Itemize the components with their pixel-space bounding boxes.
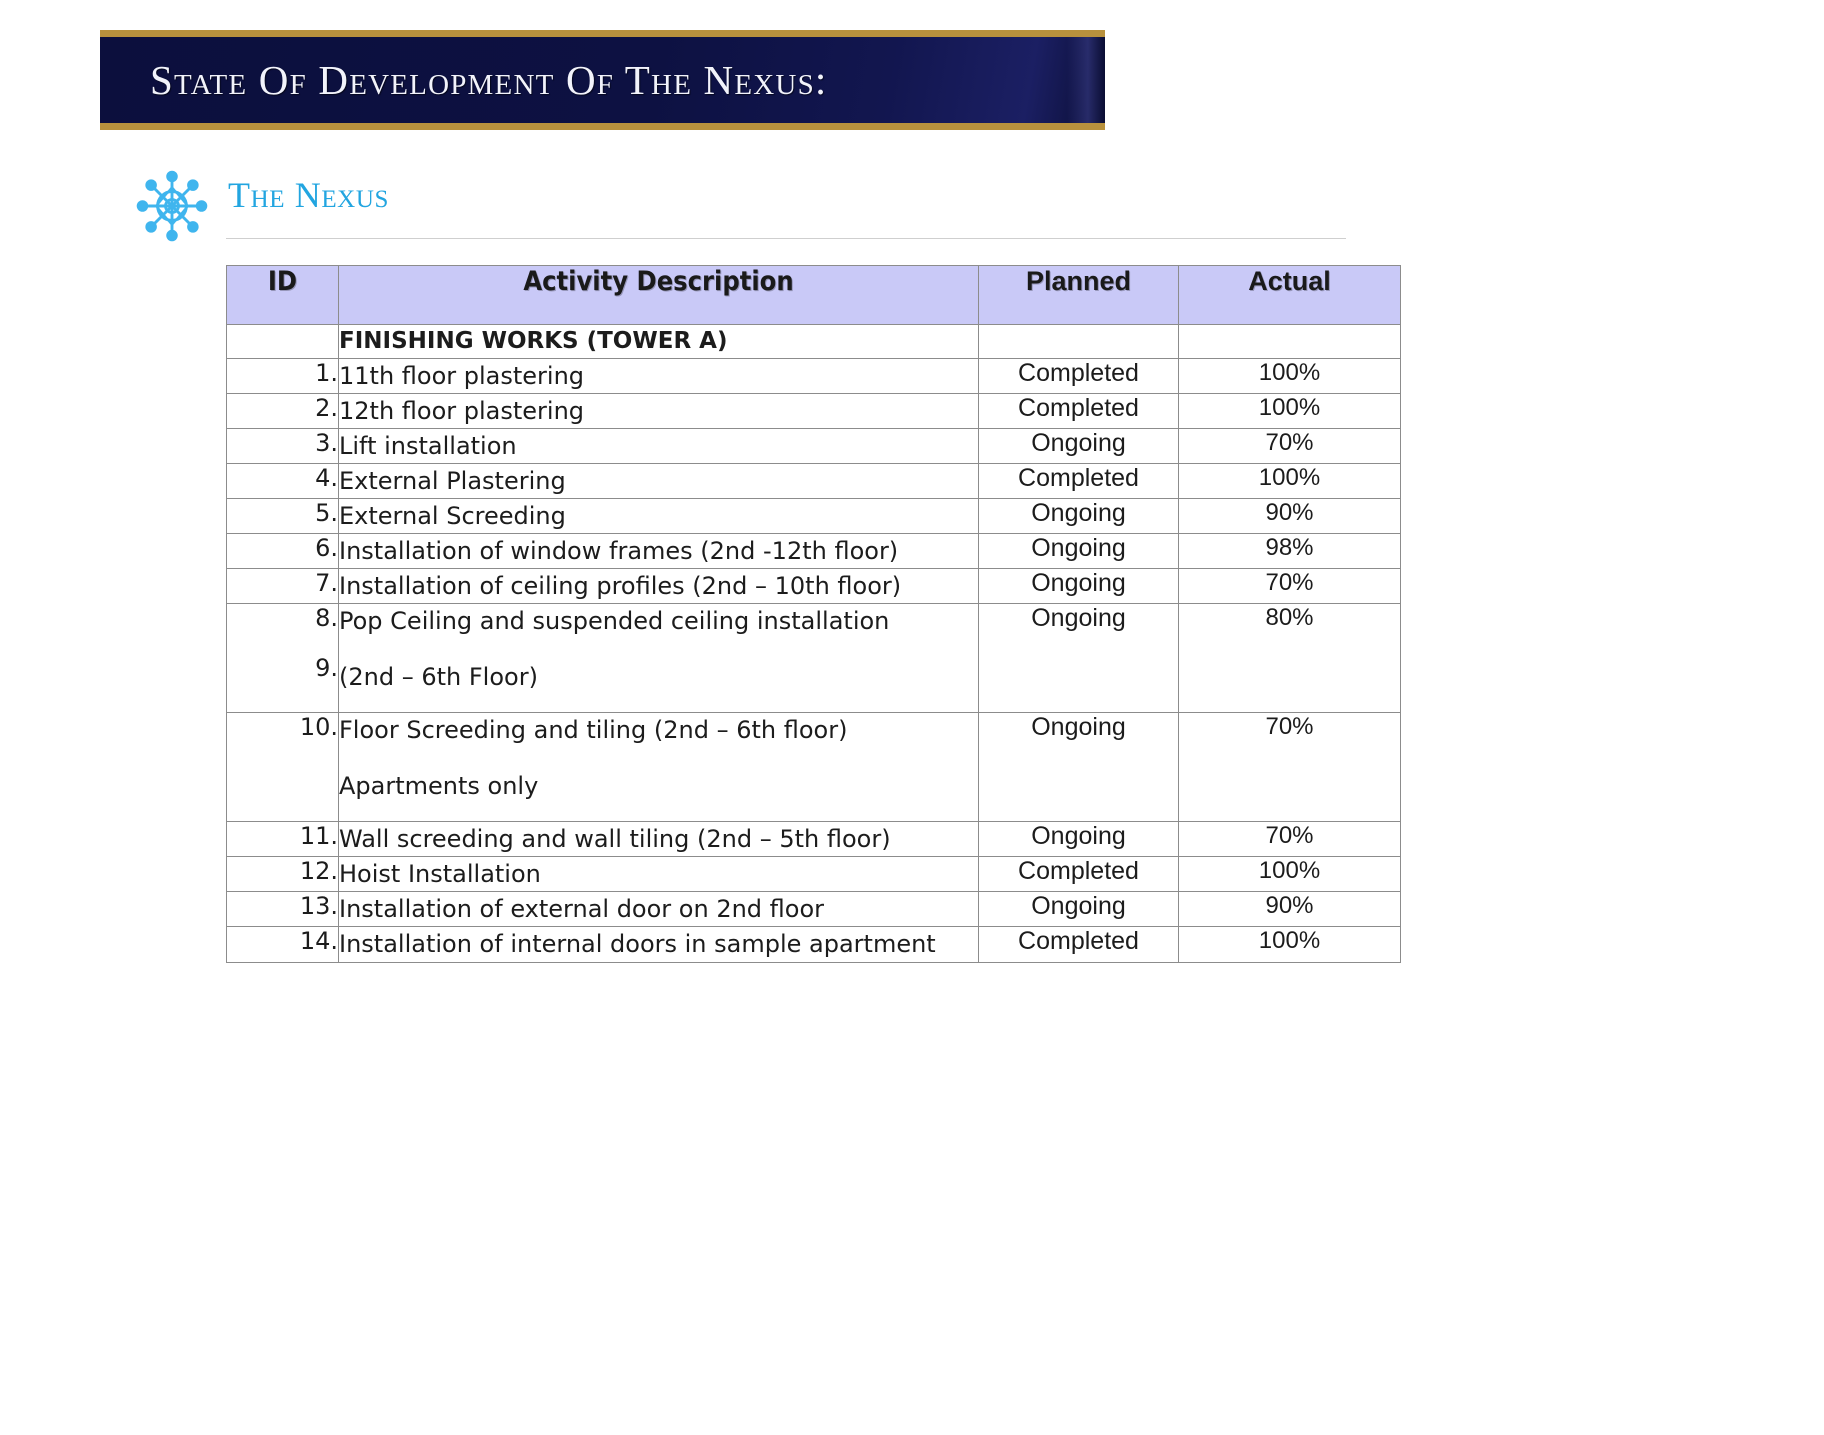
row-planned-status: Ongoing <box>979 604 1179 713</box>
table-row: 6.Installation of window frames (2nd -12… <box>227 534 1401 569</box>
row-actual-progress: 90% <box>1179 498 1401 533</box>
row-planned-status: Ongoing <box>979 822 1179 857</box>
row-actual-progress: 100% <box>1179 927 1401 962</box>
row-actual-progress: 70% <box>1179 822 1401 857</box>
row-actual-progress: 100% <box>1179 358 1401 393</box>
row-actual-progress: 90% <box>1179 892 1401 927</box>
row-description: External Plastering <box>339 463 979 498</box>
row-planned-status: Ongoing <box>979 713 1179 822</box>
row-id: 8.9. <box>227 604 339 713</box>
section-header: The Nexus <box>132 168 1352 244</box>
row-description: Floor Screeding and tiling (2nd – 6th fl… <box>339 713 979 822</box>
row-description: External Screeding <box>339 498 979 533</box>
row-id: 2. <box>227 393 339 428</box>
row-description: 12th floor plastering <box>339 393 979 428</box>
row-description: Installation of window frames (2nd -12th… <box>339 534 979 569</box>
table-row: 3.Lift installationOngoing70% <box>227 428 1401 463</box>
row-planned-status: Completed <box>979 927 1179 962</box>
row-description: 11th floor plastering <box>339 358 979 393</box>
table-row: 7.Installation of ceiling profiles (2nd … <box>227 569 1401 604</box>
table-row: 8.9.Pop Ceiling and suspended ceiling in… <box>227 604 1401 713</box>
activity-table: ID Activity Description Planned Actual F… <box>226 265 1401 963</box>
row-id: 10.. <box>227 713 339 822</box>
row-actual-progress: 100% <box>1179 393 1401 428</box>
column-header-planned: Planned <box>979 266 1179 325</box>
row-planned-status: Ongoing <box>979 534 1179 569</box>
row-planned-status: Ongoing <box>979 892 1179 927</box>
row-planned-status: Completed <box>979 857 1179 892</box>
row-actual-progress: 100% <box>1179 857 1401 892</box>
row-id: 6. <box>227 534 339 569</box>
table-row: 13.Installation of external door on 2nd … <box>227 892 1401 927</box>
column-header-id: ID <box>227 266 339 325</box>
row-id: 13. <box>227 892 339 927</box>
table-row: 5.External ScreedingOngoing90% <box>227 498 1401 533</box>
row-actual-progress: 70% <box>1179 428 1401 463</box>
table-row: 11.Wall screeding and wall tiling (2nd –… <box>227 822 1401 857</box>
row-id: 1. <box>227 358 339 393</box>
row-actual-progress: 80% <box>1179 604 1401 713</box>
row-planned-status: Completed <box>979 393 1179 428</box>
section-row-id <box>227 325 339 359</box>
table-row: 12.Hoist InstallationCompleted100% <box>227 857 1401 892</box>
row-description: Installation of external door on 2nd flo… <box>339 892 979 927</box>
row-actual-progress: 70% <box>1179 713 1401 822</box>
row-description: Hoist Installation <box>339 857 979 892</box>
row-id: 14. <box>227 927 339 962</box>
table-row: 10..Floor Screeding and tiling (2nd – 6t… <box>227 713 1401 822</box>
row-id: 3. <box>227 428 339 463</box>
row-description: Installation of ceiling profiles (2nd – … <box>339 569 979 604</box>
section-row-planned <box>979 325 1179 359</box>
page-title: State Of Development Of The Nexus: <box>100 56 828 104</box>
table-header: ID Activity Description Planned Actual <box>227 266 1401 325</box>
row-planned-status: Completed <box>979 463 1179 498</box>
row-actual-progress: 70% <box>1179 569 1401 604</box>
row-actual-progress: 98% <box>1179 534 1401 569</box>
row-description: Lift installation <box>339 428 979 463</box>
table-header-row: ID Activity Description Planned Actual <box>227 266 1401 325</box>
row-id: 12. <box>227 857 339 892</box>
column-header-actual: Actual <box>1179 266 1401 325</box>
row-planned-status: Ongoing <box>979 498 1179 533</box>
section-title: The Nexus <box>228 174 389 216</box>
table-row: 14.Installation of internal doors in sam… <box>227 927 1401 962</box>
section-divider <box>226 238 1346 239</box>
nexus-snowflake-icon <box>136 170 208 242</box>
table-row: 1.11th floor plasteringCompleted100% <box>227 358 1401 393</box>
row-planned-status: Ongoing <box>979 428 1179 463</box>
section-row-actual <box>1179 325 1401 359</box>
row-id: 7. <box>227 569 339 604</box>
table-body: FINISHING WORKS (TOWER A)1.11th floor pl… <box>227 325 1401 963</box>
row-actual-progress: 100% <box>1179 463 1401 498</box>
section-row-label: FINISHING WORKS (TOWER A) <box>339 325 979 359</box>
row-id: 11. <box>227 822 339 857</box>
row-id: 4. <box>227 463 339 498</box>
row-description: Installation of internal doors in sample… <box>339 927 979 962</box>
column-header-desc: Activity Description <box>339 266 979 325</box>
row-description: Wall screeding and wall tiling (2nd – 5t… <box>339 822 979 857</box>
row-planned-status: Completed <box>979 358 1179 393</box>
row-id: 5. <box>227 498 339 533</box>
table-row: 4.External PlasteringCompleted100% <box>227 463 1401 498</box>
table-section-row: FINISHING WORKS (TOWER A) <box>227 325 1401 359</box>
row-description: Pop Ceiling and suspended ceiling instal… <box>339 604 979 713</box>
row-planned-status: Ongoing <box>979 569 1179 604</box>
title-banner: State Of Development Of The Nexus: <box>100 30 1105 130</box>
table-row: 2.12th floor plasteringCompleted100% <box>227 393 1401 428</box>
